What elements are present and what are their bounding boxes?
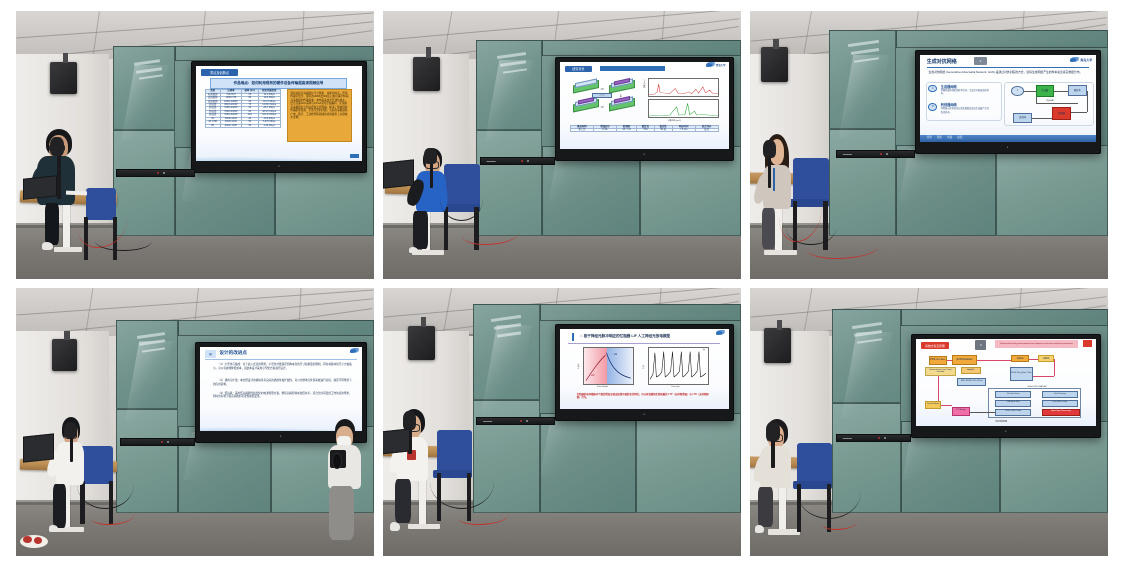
title-underline: [927, 67, 1089, 68]
room-scene-2: 研究背景 青岛大学: [383, 11, 741, 279]
wall-speaker: [764, 328, 791, 363]
dsp-group-label: off-line DSP in MATLAB: [1028, 386, 1047, 388]
plot1-ylabel: G (μS): [578, 364, 580, 369]
process-step-3: [573, 99, 597, 110]
block-freq-offset: Freq Offset Comp: [1042, 400, 1078, 407]
slide-bottom-label: 实验系统框图: [995, 420, 1007, 423]
display-control-tray[interactable]: ▬▬▬: [836, 434, 911, 442]
slide-headline: 作品难点：如何利用现有的硬件设备传输超高清视频信号: [210, 78, 348, 89]
display-screen-5: ：基于神经元脉冲响应的忆阻器 LIF 人工神经元放电模型: [560, 329, 729, 408]
title-underline: [568, 343, 720, 344]
plot-spike-train: (b): [648, 347, 709, 385]
plot2-xlabel: Time (ms): [671, 386, 679, 388]
display-screen-6: 系统方案及原理 2 Self-injection locking semicon…: [916, 339, 1096, 427]
logo-mark: [706, 62, 715, 67]
wall-display-3[interactable]: 生成对抗网络 2 青岛大学 生成对抗网络 (Generative Adversa…: [915, 50, 1101, 155]
slide-section-label: 系统方案及原理: [921, 342, 950, 349]
wall-speaker: [761, 47, 788, 82]
tray-label: ▬▬▬: [483, 419, 492, 423]
laptop-4[interactable]: [23, 434, 54, 463]
photo-tile-1[interactable]: 重点及创新点 作品难点：如何利用现有的硬件设备传输超高清视频信号 类型 分辨率 …: [16, 11, 374, 279]
university-logo: 青岛大学: [1070, 57, 1092, 62]
process-step-1: [573, 81, 597, 92]
slide-paragraph-2: （2）通用与扩展：本文所设计的模块具有良好的通用性和扩展性，可以方便地与外部系统…: [213, 379, 352, 387]
table-cell: 优异: [695, 128, 718, 131]
block-dsp: Digital Signal Processing: [1042, 409, 1080, 416]
room-scene-4: ▤ 设计的改进点 （1）小型化与集成：对于嵌入式应用场景，小型化才能满足结构本身…: [16, 288, 374, 556]
logo-mark: [716, 330, 725, 335]
display-control-tray[interactable]: [120, 438, 195, 446]
wall-speaker: [52, 339, 77, 371]
display-brand: ●: [643, 412, 645, 416]
ltp-annotation: LTP: [591, 375, 594, 377]
slide-section-label: 研究背景: [565, 66, 592, 72]
laptop-1[interactable]: [23, 175, 57, 199]
block-pump-controller: Semiconductor Laser Pump Controller: [925, 367, 956, 376]
photo-tile-6[interactable]: 系统方案及原理 2 Self-injection locking semicon…: [750, 288, 1108, 556]
display-brand: ●: [1007, 145, 1009, 149]
table-cell: 10⁻¹² M: [616, 128, 636, 131]
room-scene-1: 重点及创新点 作品难点：如何利用现有的硬件设备传输超高清视频信号 类型 分辨率 …: [16, 11, 374, 279]
microphone-3: [763, 140, 777, 159]
plot-pulse-response: LTP LTD: [583, 347, 634, 385]
slide-footer: 背景理论仿真总结: [920, 135, 1096, 143]
block-phase-offset: Phase Offset Comp: [995, 409, 1031, 416]
slide-footer-wave: [196, 146, 361, 161]
wall-speaker: [50, 62, 77, 94]
logo-text: 青岛大学: [716, 63, 726, 67]
block-clock-recovery: Clock Recovery: [1042, 391, 1078, 398]
table-cell: 6280×720P: [220, 124, 241, 127]
display-screen-1: 重点及创新点 作品难点：如何利用现有的硬件设备传输超高清视频信号 类型 分辨率 …: [196, 66, 361, 162]
plot2-ylabel: V (V): [643, 365, 645, 369]
slide-title: 生成对抗网络: [927, 58, 957, 65]
slide-2: 研究背景 青岛大学: [560, 62, 729, 150]
power-cable-black-5: [430, 454, 494, 509]
photo-tile-3[interactable]: 生成对抗网络 2 青岛大学 生成对抗网络 (Generative Adversa…: [750, 11, 1108, 279]
table-cell: 50: [241, 124, 258, 127]
photographer: [324, 419, 374, 548]
laptop-2[interactable]: [383, 159, 414, 188]
table-cell: 30 天: [654, 128, 672, 131]
power-cable-black-4: [77, 460, 134, 509]
process-center-box: ⬡⬡⬡: [592, 93, 612, 98]
table-cell: <5%: [636, 128, 654, 131]
slide-page-badge: 2: [975, 340, 986, 350]
table-row: 8K6280×720P504.28 Mbps: [205, 124, 280, 127]
block-pd-filters: PD/OE Filter 1 Filter 2 Filter 3: [1010, 367, 1033, 381]
photo-tile-2[interactable]: 研究背景 青岛大学: [383, 11, 741, 279]
table-cell: 本工作: [570, 128, 593, 131]
footer-nav-item[interactable]: 背景: [927, 135, 932, 139]
block-amplifier: Amplifier: [961, 367, 981, 374]
wall-display-1[interactable]: 重点及创新点 作品难点：如何利用现有的硬件设备传输超高清视频信号 类型 分辨率 …: [191, 61, 366, 174]
spectra-ylabel: 强度 (a.u.): [643, 80, 646, 88]
raman-spectrum-b: [648, 99, 719, 118]
display-control-tray[interactable]: ▬▬▬: [480, 157, 555, 165]
block-awg-fpga: AWG FPGA 2 GS/s 16 bits: [957, 378, 986, 386]
arrow-down-icon: ⇓: [619, 93, 622, 98]
logo-text: 青岛大学: [1080, 58, 1092, 62]
microphone-1: [50, 137, 64, 156]
block-cma-equal: CMA Equal Filter: [995, 400, 1031, 407]
arrow-right-icon: ⇒: [600, 86, 603, 91]
tray-label: ▬▬▬: [843, 152, 852, 156]
display-screen-2: 研究背景 青岛大学: [560, 62, 729, 150]
block-laser: 1550 nm Laser: [929, 356, 947, 365]
tray-label: ▬▬▬: [487, 159, 496, 163]
wall-speaker: [413, 57, 440, 92]
slide-title: 设计的改进点: [219, 350, 247, 356]
slide-note-box: 现有的超高清视频信号分辨率、帧率均较高，所需传输带宽大，现有的HDMI及SDI接…: [287, 89, 352, 143]
slide-caption: 忆阻器的电导随脉冲个数的增加呈现出连续可调的变化特性，可以有效模拟生物突触的 L…: [577, 393, 712, 400]
room-scene-3: 生成对抗网络 2 青岛大学 生成对抗网络 (Generative Adversa…: [750, 11, 1108, 279]
panel-label-b: (b): [703, 349, 705, 351]
bullet-panel-outline: [926, 82, 1002, 121]
display-brand: ●: [280, 434, 282, 438]
plot1-xlabel: Pulse Number: [597, 386, 608, 388]
slide-6: 系统方案及原理 2 Self-injection locking semicon…: [916, 339, 1096, 427]
camera-lens-icon: [332, 453, 342, 469]
logo-mark: [1070, 57, 1079, 62]
microphone-6: [766, 422, 780, 441]
footer-nav-item[interactable]: 仿真: [947, 135, 952, 139]
university-logo: [350, 348, 359, 353]
university-logo: 青岛大学: [706, 62, 726, 67]
block-pc-storage: PC Storage: [952, 407, 970, 416]
slide-paragraph-1: （1）小型化与集成：对于嵌入式应用场景，小型化才能满足结构本身的尺寸和重量的限制…: [213, 363, 352, 371]
process-step-4: [609, 98, 633, 109]
power-cable-black-3: [786, 212, 836, 245]
display-brand: ●: [1005, 429, 1007, 433]
table-cell: 8K: [205, 124, 220, 127]
display-control-tray[interactable]: [116, 169, 195, 177]
table-cell: 1×10⁷: [593, 128, 616, 131]
process-step-2: [609, 80, 633, 91]
block-splitter: Splitter: [1011, 355, 1029, 362]
laptop-5[interactable]: [383, 428, 410, 455]
title-accent-bar: [572, 333, 575, 341]
lanyard: [773, 168, 775, 191]
photo-tile-4[interactable]: ▤ 设计的改进点 （1）小型化与集成：对于嵌入式应用场景，小型化才能满足结构本身…: [16, 288, 374, 556]
slide-5: ：基于神经元脉冲响应的忆阻器 LIF 人工神经元放电模型: [560, 329, 729, 408]
slide-banner: Self-injection locking semiconductor las…: [995, 340, 1078, 348]
slide-paragraph-3: （3）低功耗：采用低功耗器件和优化的电源管理方案，整机功耗控制在较低水平，适合长…: [213, 392, 352, 400]
slide-data-table: 类型 分辨率 帧率 (fps) 所需传输带宽 标清视频720×5762511.0…: [205, 89, 281, 127]
logo-mark: [350, 348, 359, 353]
display-control-tray[interactable]: ▬▬▬: [836, 150, 915, 158]
display-brand: ●: [278, 164, 280, 168]
raman-spectrum-a: [648, 78, 719, 97]
comparison-table: 基底材料增强因子检测限重复性稳定性响应时间综合评价 本工作1×10⁷10⁻¹² …: [570, 125, 719, 133]
title-underline: [205, 359, 357, 360]
footer-nav-item[interactable]: 理论: [937, 135, 942, 139]
display-brand: ●: [643, 152, 645, 156]
display-screen-3: 生成对抗网络 2 青岛大学 生成对抗网络 (Generative Adversa…: [920, 55, 1096, 143]
diagram-panel-outline: [1004, 82, 1094, 126]
wall-display-5[interactable]: ：基于神经元脉冲响应的忆阻器 LIF 人工神经元放电模型: [555, 324, 734, 420]
microphone-4: [64, 422, 77, 438]
block-edfa: EDFA: [1038, 355, 1054, 362]
footer-nav[interactable]: 背景理论仿真总结: [927, 135, 963, 139]
tray-label: ▬▬▬: [843, 436, 852, 440]
microphone-5: [403, 411, 417, 430]
slide-corner-mark: [350, 154, 358, 159]
table-cell: < 5 min: [672, 128, 695, 131]
table-row: 本工作1×10⁷10⁻¹² M<5%30 天< 5 min优异: [570, 128, 718, 131]
photo-grid: 重点及创新点 作品难点：如何利用现有的硬件设备传输超高清视频信号 类型 分辨率 …: [0, 0, 1126, 578]
slide-header-bar: [600, 66, 664, 71]
power-cable-black-2: [440, 177, 483, 221]
microphone-2: [424, 148, 437, 164]
slide-section-label: 重点及创新点: [201, 69, 237, 76]
spectra-xlabel: 拉曼位移 (cm-1): [668, 119, 681, 122]
slide-1: 重点及创新点 作品难点：如何利用现有的硬件设备传输超高清视频信号 类型 分辨率 …: [196, 66, 361, 162]
power-cable-black-1: [95, 231, 152, 251]
slide-page-badge: 2: [974, 57, 986, 65]
wall-display-2[interactable]: 研究背景 青岛大学: [555, 57, 734, 162]
university-logo: [716, 330, 725, 335]
block-modulator: EOM Modulator: [952, 355, 977, 365]
table-cell: 4.28 Mbps: [258, 124, 280, 127]
block-local-oscillator: Local Oscillator: [925, 401, 941, 410]
room-scene-5: ：基于神经元脉冲响应的忆阻器 LIF 人工神经元放电模型: [383, 288, 741, 556]
slide-intro: 生成对抗网络 (Generative Adversarial Network, …: [928, 70, 1087, 74]
slide-3: 生成对抗网络 2 青岛大学 生成对抗网络 (Generative Adversa…: [920, 55, 1096, 143]
power-cable-black-6: [797, 465, 861, 520]
photo-tile-5[interactable]: ：基于神经元脉冲响应的忆阻器 LIF 人工神经元放电模型: [383, 288, 741, 556]
slide-corner-mark: [1083, 340, 1092, 347]
ltd-annotation: LTD: [614, 354, 617, 356]
arrow-right-icon-2: ⇒: [600, 104, 603, 109]
slide-title: ：基于神经元脉冲响应的忆阻器 LIF 人工神经元放电模型: [580, 334, 670, 339]
room-scene-6: 系统方案及原理 2 Self-injection locking semicon…: [750, 288, 1108, 556]
block-pk-look: Pk Look Detect: [995, 391, 1031, 398]
wall-speaker: [408, 326, 435, 361]
section-icon: ▤: [205, 350, 216, 358]
display-control-tray[interactable]: ▬▬▬: [476, 417, 555, 425]
wall-display-6[interactable]: 系统方案及原理 2 Self-injection locking semicon…: [911, 334, 1101, 439]
footer-nav-item[interactable]: 总结: [957, 135, 962, 139]
